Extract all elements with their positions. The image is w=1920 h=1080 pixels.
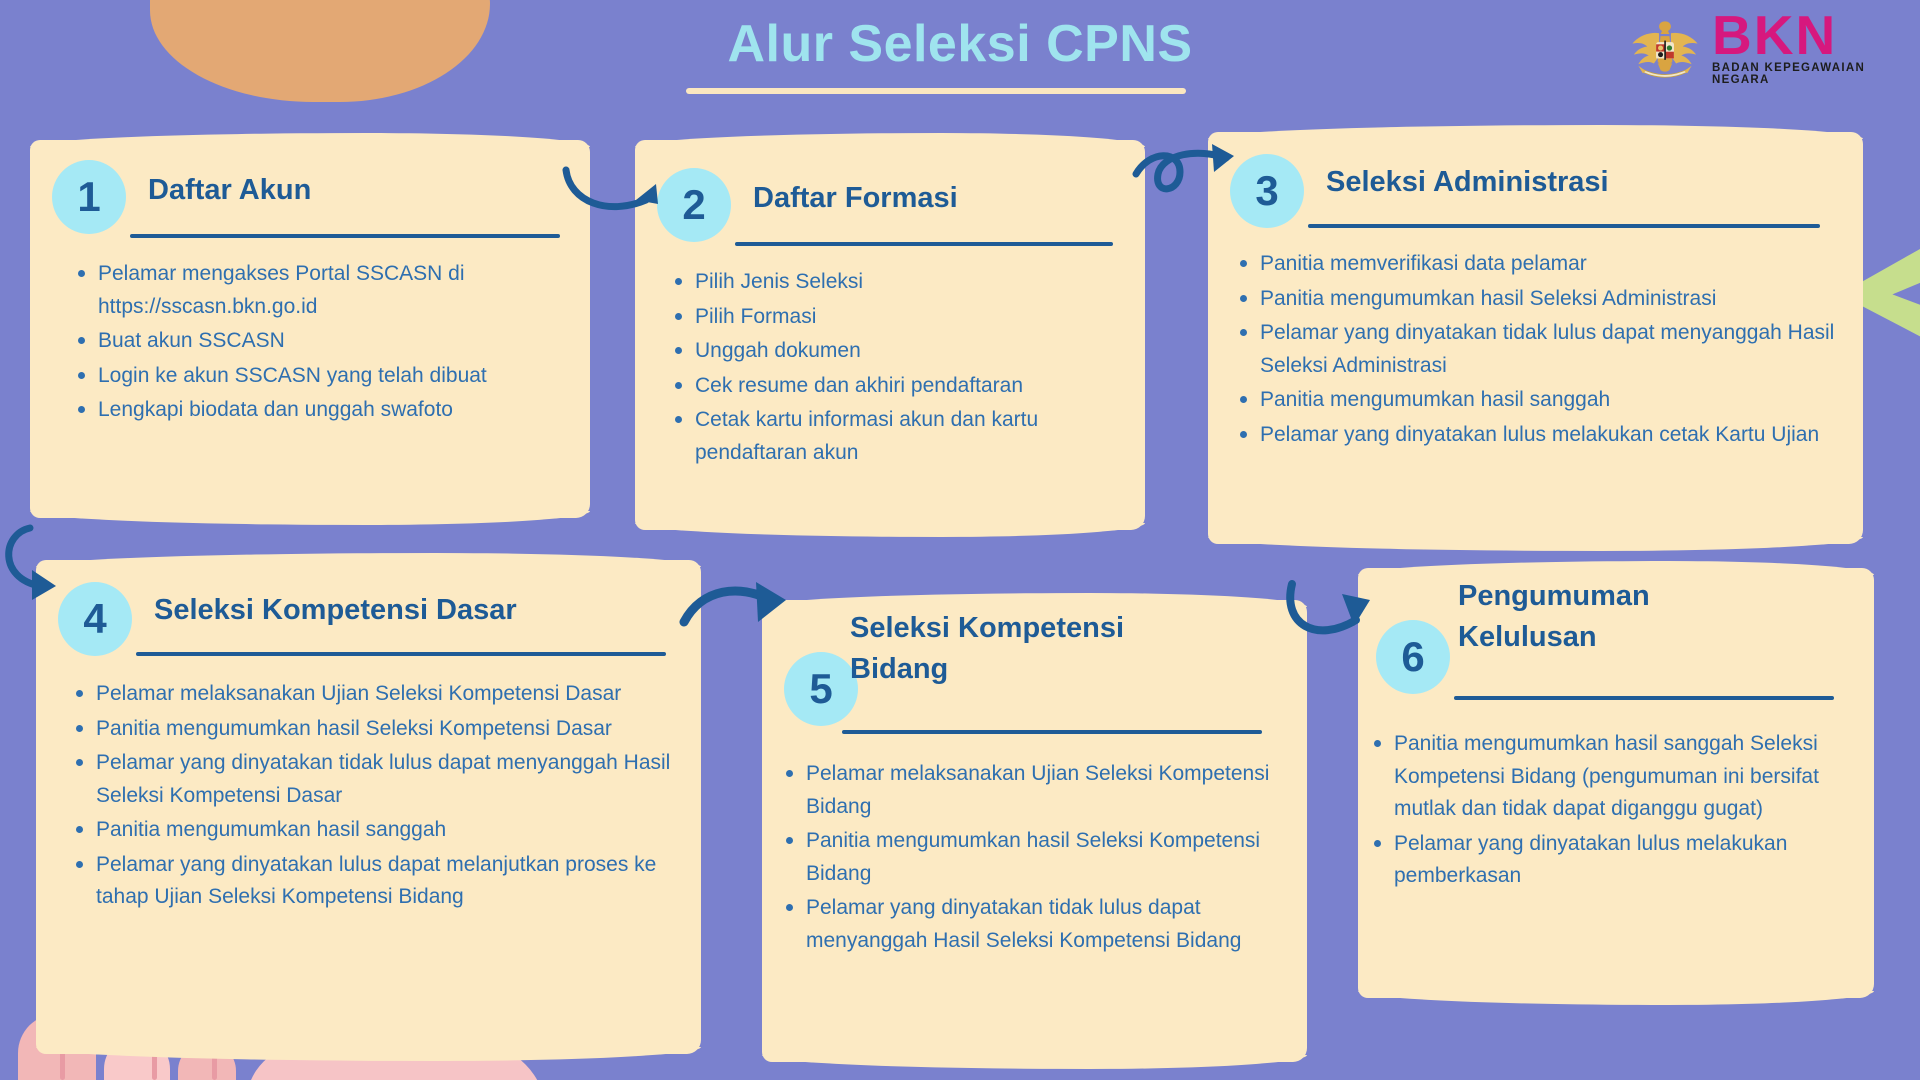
step-bullets-2: Pilih Jenis Seleksi Pilih Formasi Unggah… xyxy=(673,266,1121,471)
bkn-logo: BKN BADAN KEPEGAWAIAN NEGARA xyxy=(1628,6,1898,90)
list-item: Pelamar yang dinyatakan lulus melakukan … xyxy=(1238,419,1838,452)
step-title-3: Seleksi Administrasi xyxy=(1326,162,1826,203)
step-number-1: 1 xyxy=(52,160,126,234)
list-item: Cetak kartu informasi akun dan kartu pen… xyxy=(673,404,1121,469)
step-card-6[interactable]: 6 Pengumuman Kelulusan Panitia mengumumk… xyxy=(1358,568,1874,998)
step-title-4: Seleksi Kompetensi Dasar xyxy=(154,590,674,631)
arrow-step1-to-step2 xyxy=(560,160,670,230)
step-bullets-5: Pelamar melaksanakan Ujian Seleksi Kompe… xyxy=(784,758,1282,959)
list-item: Pelamar yang dinyatakan tidak lulus dapa… xyxy=(74,747,674,812)
step-bullets-1: Pelamar mengakses Portal SSCASN di https… xyxy=(76,258,566,429)
step-card-5[interactable]: 5 Seleksi Kompetensi Bidang Pelamar mela… xyxy=(762,600,1307,1062)
bkn-wordmark: BKN xyxy=(1712,10,1898,61)
step-title-2: Daftar Formasi xyxy=(753,178,1123,219)
step-bullets-3: Panitia memverifikasi data pelamar Panit… xyxy=(1238,248,1838,453)
bkn-subtitle: BADAN KEPEGAWAIAN NEGARA xyxy=(1712,63,1898,86)
list-item: Buat akun SSCASN xyxy=(76,325,566,358)
list-item: Panitia mengumumkan hasil Seleksi Kompet… xyxy=(784,825,1282,890)
arrow-step5-to-step6 xyxy=(1282,578,1402,660)
step-title-underline-1 xyxy=(130,234,560,238)
list-item: Panitia memverifikasi data pelamar xyxy=(1238,248,1838,281)
list-item: Pilih Jenis Seleksi xyxy=(673,266,1121,299)
list-item: Pelamar yang dinyatakan tidak lulus dapa… xyxy=(784,892,1282,957)
step-card-2[interactable]: 2 Daftar Formasi Pilih Jenis Seleksi Pil… xyxy=(635,140,1145,530)
step-title-underline-6 xyxy=(1454,696,1834,700)
arrow-step4-to-step5 xyxy=(678,578,798,650)
step-bullets-6: Panitia mengumumkan hasil sanggah Seleks… xyxy=(1372,728,1842,895)
step-bullets-4: Pelamar melaksanakan Ujian Seleksi Kompe… xyxy=(74,678,674,916)
list-item: Unggah dokumen xyxy=(673,335,1121,368)
step-card-3[interactable]: 3 Seleksi Administrasi Panitia memverifi… xyxy=(1208,132,1863,544)
list-item: Panitia mengumumkan hasil sanggah xyxy=(74,814,674,847)
list-item: Pelamar mengakses Portal SSCASN di https… xyxy=(76,258,566,323)
list-item: Lengkapi biodata dan unggah swafoto xyxy=(76,394,566,427)
arrow-step2-to-step3 xyxy=(1128,140,1248,220)
list-item: Cek resume dan akhiri pendaftaran xyxy=(673,370,1121,403)
step-title-underline-3 xyxy=(1308,224,1820,228)
list-item: Pilih Formasi xyxy=(673,301,1121,334)
infographic-canvas: Alur Seleksi CPNS xyxy=(0,0,1920,1080)
title-underline xyxy=(686,88,1186,94)
list-item: Pelamar yang dinyatakan tidak lulus dapa… xyxy=(1238,317,1838,382)
list-item: Panitia mengumumkan hasil sanggah xyxy=(1238,384,1838,417)
step-title-underline-5 xyxy=(842,730,1262,734)
step-card-4[interactable]: 4 Seleksi Kompetensi Dasar Pelamar melak… xyxy=(36,560,701,1054)
list-item: Pelamar yang dinyatakan lulus melakukan … xyxy=(1372,828,1842,893)
list-item: Pelamar melaksanakan Ujian Seleksi Kompe… xyxy=(74,678,674,711)
step-title-underline-4 xyxy=(136,652,666,656)
garuda-pancasila-icon xyxy=(1628,11,1702,85)
step-title-6: Pengumuman Kelulusan xyxy=(1458,576,1788,658)
arrow-step3-to-step4 xyxy=(0,520,101,620)
step-title-underline-2 xyxy=(735,242,1113,246)
list-item: Pelamar melaksanakan Ujian Seleksi Kompe… xyxy=(784,758,1282,823)
list-item: Panitia mengumumkan hasil Seleksi Admini… xyxy=(1238,283,1838,316)
list-item: Login ke akun SSCASN yang telah dibuat xyxy=(76,360,566,393)
step-title-1: Daftar Akun xyxy=(148,170,528,211)
step-card-1[interactable]: 1 Daftar Akun Pelamar mengakses Portal S… xyxy=(30,140,590,518)
list-item: Panitia mengumumkan hasil sanggah Seleks… xyxy=(1372,728,1842,826)
step-title-5: Seleksi Kompetensi Bidang xyxy=(850,608,1220,690)
list-item: Panitia mengumumkan hasil Seleksi Kompet… xyxy=(74,713,674,746)
list-item: Pelamar yang dinyatakan lulus dapat mela… xyxy=(74,849,674,914)
step-number-5: 5 xyxy=(784,652,858,726)
